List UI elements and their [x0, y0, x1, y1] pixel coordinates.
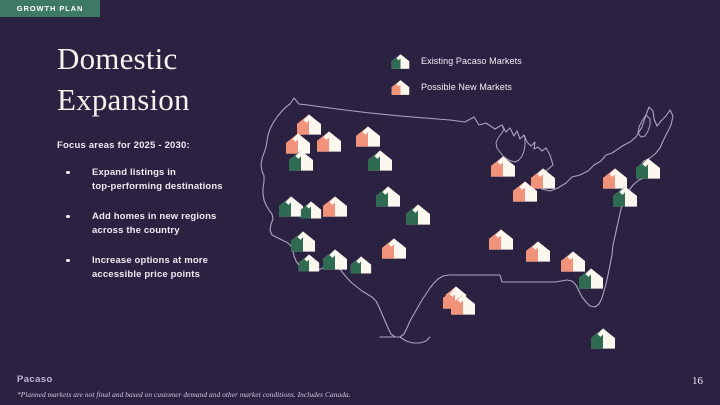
list-item-label: Expand listings intop-performing destina… — [92, 167, 223, 192]
house-icon — [391, 53, 410, 70]
map-marker-existing — [578, 267, 604, 290]
map-marker-existing — [367, 149, 393, 172]
map-marker-existing — [300, 200, 322, 220]
map-marker-possible — [512, 180, 538, 203]
map-marker-existing — [635, 157, 661, 180]
map-marker-existing — [612, 185, 638, 208]
map-marker-possible — [322, 195, 348, 218]
map-marker-existing — [375, 185, 401, 208]
map-marker-possible — [490, 155, 516, 178]
list-item: Increase options at moreaccessible price… — [66, 254, 281, 282]
slide-canvas: GROWTH PLAN Domestic Expansion Focus are… — [0, 0, 720, 405]
list-item: Expand listings intop-performing destina… — [66, 166, 281, 194]
list-item: Add homes in new regionsacross the count… — [66, 210, 281, 238]
map-marker-existing — [350, 255, 372, 275]
page-number: 16 — [692, 375, 703, 387]
growth-plan-tag: GROWTH PLAN — [0, 0, 100, 17]
map-marker-possible — [381, 237, 407, 260]
map-marker-existing — [322, 248, 348, 271]
legend-item-label: Existing Pacaso Markets — [421, 56, 522, 66]
us-map — [250, 85, 720, 375]
bullet-dot-icon — [66, 259, 70, 263]
brand-label: Pacaso — [17, 374, 53, 385]
bullet-dot-icon — [66, 171, 70, 175]
map-marker-existing — [290, 230, 316, 253]
map-marker-possible — [316, 130, 342, 153]
map-marker-existing — [288, 149, 314, 172]
map-marker-possible — [355, 125, 381, 148]
bullet-dot-icon — [66, 215, 70, 219]
map-marker-possible — [488, 228, 514, 251]
map-marker-existing — [298, 253, 320, 273]
map-marker-existing — [590, 327, 616, 350]
page-title-line-1: Domestic — [57, 39, 287, 80]
map-marker-possible — [525, 240, 551, 263]
focus-areas-list: Expand listings intop-performing destina… — [66, 166, 281, 298]
legend-item-existing: Existing Pacaso Markets — [391, 50, 522, 72]
focus-areas-heading: Focus areas for 2025 - 2030: — [57, 140, 190, 151]
footnote-text: *Planned markets are not final and based… — [17, 390, 351, 399]
list-item-label: Increase options at moreaccessible price… — [92, 255, 208, 280]
list-item-label: Add homes in new regionsacross the count… — [92, 211, 216, 236]
growth-plan-tag-label: GROWTH PLAN — [17, 4, 84, 13]
map-marker-possible — [450, 293, 476, 316]
map-marker-existing — [405, 203, 431, 226]
